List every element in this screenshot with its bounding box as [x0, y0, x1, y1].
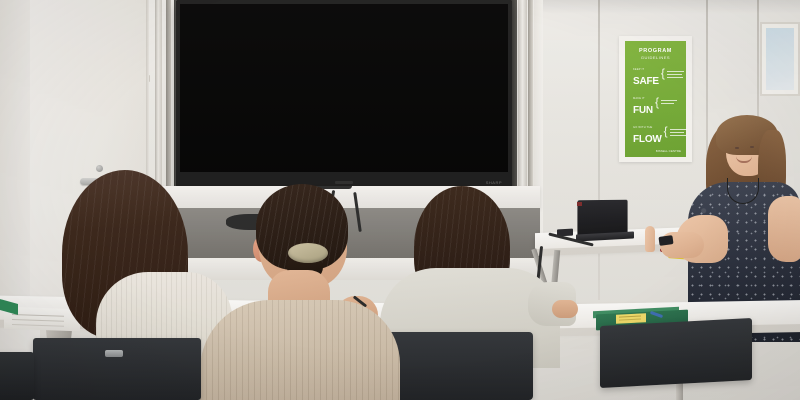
poster-brace-icon: {	[664, 126, 668, 137]
poster-item-word: SAFE	[633, 76, 659, 87]
poster-brace-icon: {	[661, 68, 665, 79]
poster-item-lines	[661, 100, 677, 104]
laptop-logo-icon	[577, 202, 582, 206]
wall-panel-seam	[598, 0, 600, 300]
student-center-scrunchie	[288, 243, 328, 263]
poster-heading: PROGRAM	[630, 48, 681, 54]
instructor-phone[interactable]	[658, 235, 673, 246]
instructor-arm-right	[768, 196, 800, 262]
poster-item-lines	[670, 129, 687, 136]
poster-guideline-item: KEEP IT SAFE {	[630, 68, 681, 89]
ceiling-shadow	[543, 0, 800, 14]
poster-item-word: FUN	[633, 105, 653, 116]
classroom-chair[interactable]	[33, 338, 201, 400]
poster-item-lines	[667, 71, 684, 78]
poster-brace-icon: {	[655, 97, 659, 108]
poster-subheading: GUIDELINES	[630, 55, 681, 60]
wall-picture-frame	[760, 22, 800, 96]
instructor-eye	[750, 146, 754, 148]
sticky-note[interactable]	[616, 313, 646, 324]
poster-item-kicker: KEEP IT	[633, 68, 659, 71]
poster-item-kicker: GO WITH THE	[633, 126, 662, 129]
poster-item-word: FLOW	[633, 134, 662, 145]
instructor-eye	[735, 147, 739, 149]
classroom-photo-scene: PROGRAM GUIDELINES KEEP IT SAFE { MAKE I…	[0, 0, 800, 400]
tv-brand-label: SHARP	[486, 180, 502, 185]
classroom-chair[interactable]	[0, 352, 34, 400]
classroom-chair[interactable]	[600, 318, 752, 388]
poster-footer-logo: BISSELL CENTRE	[656, 149, 681, 153]
program-guidelines-poster[interactable]: PROGRAM GUIDELINES KEEP IT SAFE { MAKE I…	[625, 41, 686, 157]
poster-guideline-item: GO WITH THE FLOW {	[630, 126, 681, 147]
tv-bezel	[176, 0, 512, 188]
door-lock-icon	[96, 165, 103, 172]
poster-guideline-item: MAKE IT FUN {	[630, 97, 681, 118]
tv-power-led-icon	[335, 181, 353, 184]
wall-mounted-television[interactable]: WELCOME! RENT READY BASIC COURSE epi.ca	[176, 0, 512, 188]
lotion-bottle[interactable]	[645, 226, 655, 252]
poster-item-kicker: MAKE IT	[633, 97, 653, 100]
student-center-sweater-texture	[200, 300, 400, 400]
student-right-hand	[552, 300, 578, 318]
